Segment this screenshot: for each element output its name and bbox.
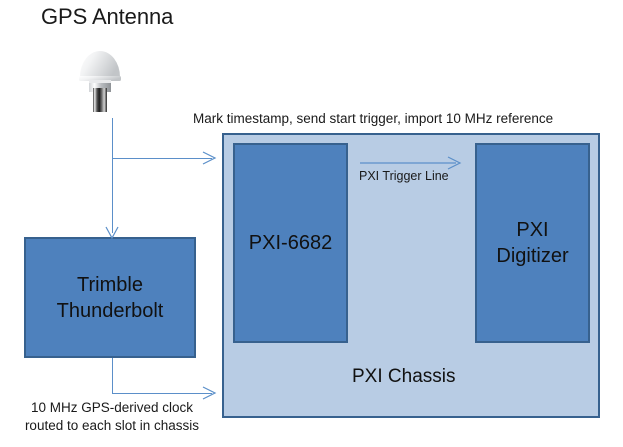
- box-trimble-thunderbolt[interactable]: Trimble Thunderbolt: [24, 237, 196, 358]
- antenna-to-chassis-line: [112, 158, 212, 159]
- bottom-caption-line1: 10 MHz GPS-derived clock: [31, 400, 193, 415]
- bottom-caption-line2: routed to each slot in chassis: [25, 418, 199, 433]
- box-pxi-digitizer-label-line1: PXI: [516, 219, 548, 241]
- antenna-to-trimble-arrowhead: [104, 224, 121, 240]
- box-pxi-digitizer-label: PXI Digitizer: [496, 217, 568, 269]
- box-pxi-6682-label: PXI-6682: [249, 230, 332, 256]
- box-trimble-thunderbolt-label-line1: Trimble: [77, 274, 143, 296]
- antenna-to-chassis-arrowhead: [200, 150, 224, 166]
- antenna-trunk-line: [112, 118, 113, 233]
- box-trimble-thunderbolt-label-line2: Thunderbolt: [57, 300, 164, 322]
- bottom-caption: 10 MHz GPS-derived clock routed to each …: [12, 399, 212, 435]
- box-pxi-digitizer[interactable]: PXI Digitizer: [475, 143, 590, 343]
- trimble-down-line: [112, 358, 113, 393]
- box-pxi-6682[interactable]: PXI-6682: [233, 143, 348, 343]
- box-pxi-digitizer-label-line2: Digitizer: [496, 245, 568, 267]
- box-trimble-thunderbolt-label: Trimble Thunderbolt: [57, 272, 164, 324]
- diagram-canvas: GPS Antenna: [0, 0, 623, 447]
- pxi-chassis-label: PXI Chassis: [352, 366, 455, 388]
- trimble-to-chassis-line: [112, 393, 212, 394]
- gps-antenna-icon: [72, 24, 128, 112]
- top-caption: Mark timestamp, send start trigger, impo…: [193, 111, 553, 126]
- pxi-trigger-line-label: PXI Trigger Line: [359, 169, 449, 183]
